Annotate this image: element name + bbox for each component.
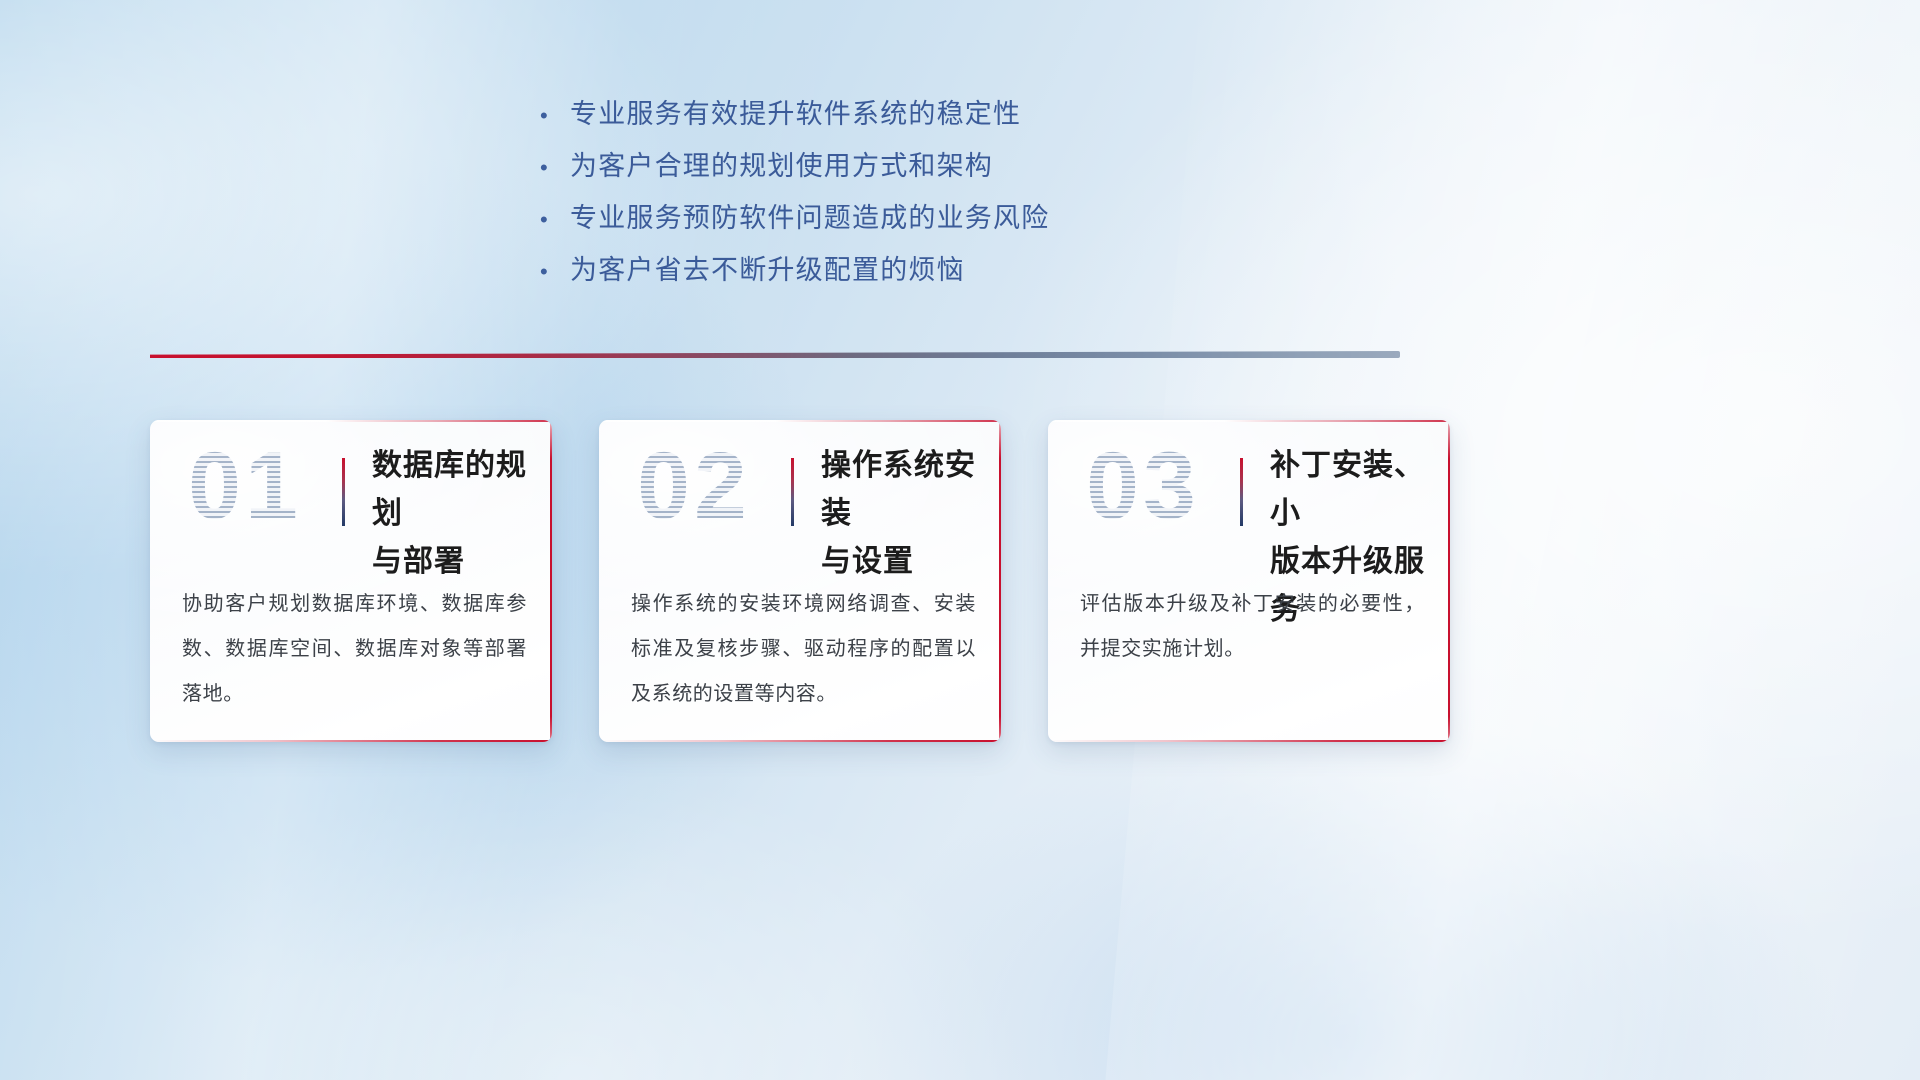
divider-line: [150, 351, 1400, 358]
card-description: 协助客户规划数据库环境、数据库参数、数据库空间、数据库对象等部署落地。: [182, 582, 527, 717]
card-number-watermark: 01: [170, 426, 320, 546]
card-title: 操作系统安装 与设置: [821, 442, 991, 586]
card-number-watermark: 02: [619, 426, 769, 546]
card-header: 01 01 数据库的规划 与部署: [150, 420, 552, 560]
card-accent-bottom: [150, 740, 552, 743]
card-title-rule: [1240, 458, 1243, 526]
bullet-text: 专业服务有效提升软件系统的稳定性: [570, 88, 1021, 140]
card-title-line2: 与部署: [372, 538, 542, 586]
bullet-marker-icon: •: [540, 246, 570, 298]
list-item: • 专业服务有效提升软件系统的稳定性: [540, 88, 1240, 140]
card-title-line1: 数据库的规划: [372, 442, 542, 538]
card-title: 数据库的规划 与部署: [372, 442, 542, 586]
card-description: 操作系统的安装环境网络调查、安装标准及复核步骤、驱动程序的配置以及系统的设置等内…: [631, 582, 976, 717]
service-card[interactable]: 02 02 操作系统安装 与设置 操作系统的安装环境网络调查、安装标准及复核步骤…: [599, 420, 1001, 742]
card-header: 03 03 补丁安装、小 版本升级服务: [1048, 420, 1450, 560]
bullet-marker-icon: •: [540, 194, 570, 246]
card-number-watermark: 03: [1068, 426, 1218, 546]
benefits-bullet-list: • 专业服务有效提升软件系统的稳定性 • 为客户合理的规划使用方式和架构 • 专…: [540, 88, 1240, 296]
card-title-line1: 补丁安装、小: [1270, 442, 1440, 538]
section-divider: [150, 348, 1400, 362]
list-item: • 为客户合理的规划使用方式和架构: [540, 140, 1240, 192]
card-header: 02 02 操作系统安装 与设置: [599, 420, 1001, 560]
service-card-group: 01 01 数据库的规划 与部署 协助客户规划数据库环境、数据库参数、数据库空间…: [150, 420, 1770, 750]
list-item: • 专业服务预防软件问题造成的业务风险: [540, 192, 1240, 244]
bullet-text: 为客户省去不断升级配置的烦恼: [570, 244, 965, 296]
bullet-text: 为客户合理的规划使用方式和架构: [570, 140, 993, 192]
card-title-line2: 与设置: [821, 538, 991, 586]
card-title-line1: 操作系统安装: [821, 442, 991, 538]
bullet-marker-icon: •: [540, 90, 570, 142]
card-title-rule: [342, 458, 345, 526]
bullet-marker-icon: •: [540, 142, 570, 194]
service-card[interactable]: 03 03 补丁安装、小 版本升级服务 评估版本升级及补丁安装的必要性，并提交实…: [1048, 420, 1450, 742]
bullet-text: 专业服务预防软件问题造成的业务风险: [570, 192, 1049, 244]
card-description: 评估版本升级及补丁安装的必要性，并提交实施计划。: [1080, 582, 1425, 672]
service-card[interactable]: 01 01 数据库的规划 与部署 协助客户规划数据库环境、数据库参数、数据库空间…: [150, 420, 552, 742]
slide-canvas: • 专业服务有效提升软件系统的稳定性 • 为客户合理的规划使用方式和架构 • 专…: [0, 0, 1920, 1080]
list-item: • 为客户省去不断升级配置的烦恼: [540, 244, 1240, 296]
card-title-rule: [791, 458, 794, 526]
card-accent-bottom: [599, 740, 1001, 743]
card-accent-bottom: [1048, 740, 1450, 743]
